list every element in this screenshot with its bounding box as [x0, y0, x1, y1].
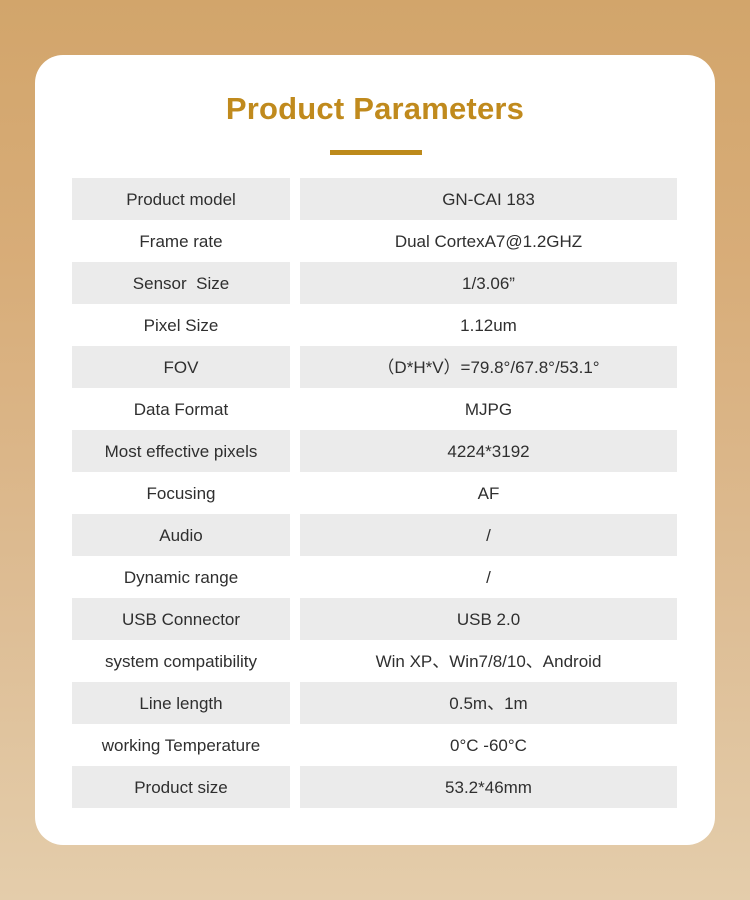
spec-label: Frame rate: [72, 220, 290, 262]
spec-value: 0.5m、1m: [300, 682, 677, 724]
table-row: Product size53.2*46mm: [72, 766, 677, 808]
table-row: Data FormatMJPG: [72, 388, 677, 430]
table-row: Line length0.5m、1m: [72, 682, 677, 724]
spec-value: GN-CAI 183: [300, 178, 677, 220]
spec-value: /: [300, 514, 677, 556]
spec-value: Dual CortexA7@1.2GHZ: [300, 220, 677, 262]
spec-label: Pixel Size: [72, 304, 290, 346]
table-row: Audio/: [72, 514, 677, 556]
table-row: system compatibilityWin XP、Win7/8/10、And…: [72, 640, 677, 682]
page-root: Product Parameters Product modelGN-CAI 1…: [0, 0, 750, 900]
title-underline-divider: [330, 150, 422, 155]
spec-value: Win XP、Win7/8/10、Android: [300, 640, 677, 682]
spec-value: MJPG: [300, 388, 677, 430]
table-row: Sensor Size1/3.06”: [72, 262, 677, 304]
table-row: working Temperature0°C -60°C: [72, 724, 677, 766]
table-row: Frame rateDual CortexA7@1.2GHZ: [72, 220, 677, 262]
spec-label: working Temperature: [72, 724, 290, 766]
table-row: Pixel Size1.12um: [72, 304, 677, 346]
spec-value: （D*H*V）=79.8°/67.8°/53.1°: [300, 346, 677, 388]
spec-value: 1/3.06”: [300, 262, 677, 304]
spec-label: Data Format: [72, 388, 290, 430]
spec-label: Sensor Size: [72, 262, 290, 304]
spec-value: 53.2*46mm: [300, 766, 677, 808]
spec-label: Dynamic range: [72, 556, 290, 598]
table-row: Dynamic range/: [72, 556, 677, 598]
spec-label: Most effective pixels: [72, 430, 290, 472]
table-row: FocusingAF: [72, 472, 677, 514]
table-row: Product modelGN-CAI 183: [72, 178, 677, 220]
spec-label: Product model: [72, 178, 290, 220]
spec-value: AF: [300, 472, 677, 514]
spec-value: 0°C -60°C: [300, 724, 677, 766]
table-row: Most effective pixels4224*3192: [72, 430, 677, 472]
product-parameters-card: Product Parameters Product modelGN-CAI 1…: [35, 55, 715, 845]
spec-label: FOV: [72, 346, 290, 388]
table-row: FOV（D*H*V）=79.8°/67.8°/53.1°: [72, 346, 677, 388]
spec-label: system compatibility: [72, 640, 290, 682]
spec-label: Product size: [72, 766, 290, 808]
spec-label: Line length: [72, 682, 290, 724]
spec-value: 1.12um: [300, 304, 677, 346]
spec-value: USB 2.0: [300, 598, 677, 640]
table-row: USB ConnectorUSB 2.0: [72, 598, 677, 640]
spec-label: Focusing: [72, 472, 290, 514]
spec-label: USB Connector: [72, 598, 290, 640]
spec-value: 4224*3192: [300, 430, 677, 472]
spec-label: Audio: [72, 514, 290, 556]
spec-value: /: [300, 556, 677, 598]
page-title: Product Parameters: [35, 91, 715, 127]
specifications-table: Product modelGN-CAI 183Frame rateDual Co…: [72, 178, 677, 808]
